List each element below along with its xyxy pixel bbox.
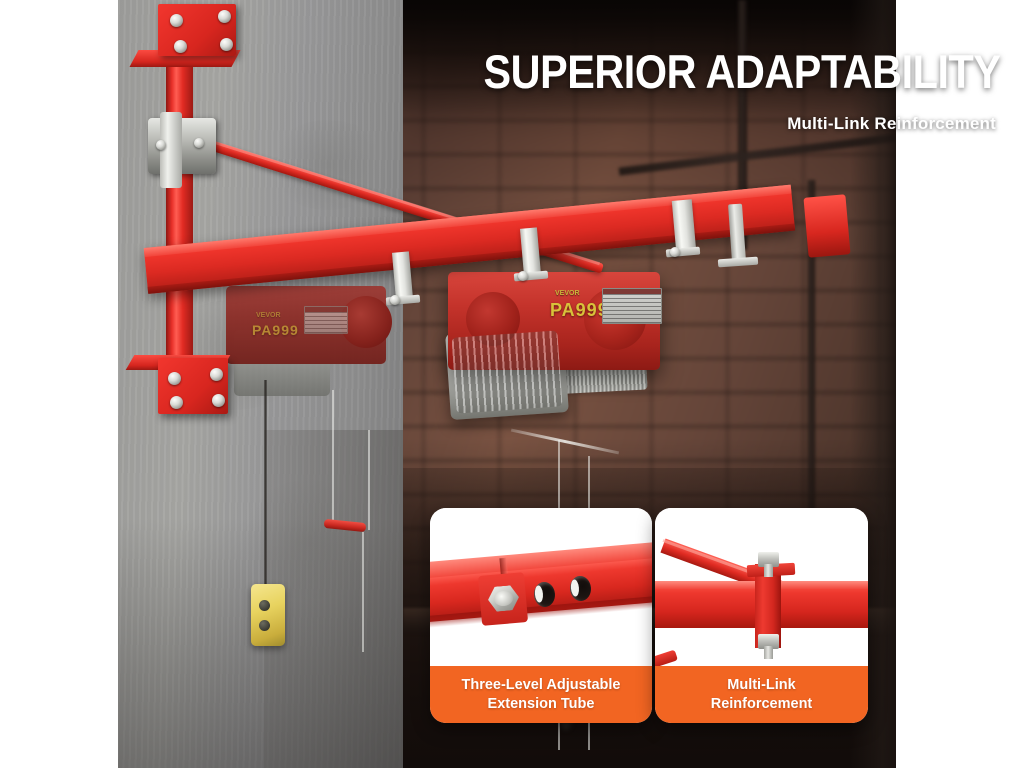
lift-cable <box>332 390 334 522</box>
lift-cable-secondary <box>368 430 370 530</box>
vertical-support-post <box>166 48 193 388</box>
caption-line-1: Three-Level Adjustable <box>461 676 620 694</box>
mount-bolt <box>210 368 223 381</box>
page-subtitle: Multi-Link Reinforcement <box>787 114 996 134</box>
collar-bolt <box>194 138 204 148</box>
page-title: SUPERIOR ADAPTABILITY <box>483 48 1000 95</box>
pendant-cable <box>264 380 267 586</box>
collar-band <box>160 112 182 188</box>
reinforcement-bolt-shaft-top <box>764 564 773 577</box>
collar-bolt <box>156 140 166 150</box>
pendant-button-up <box>259 600 270 611</box>
detail-card-multi-link: Multi-Link Reinforcement <box>655 508 868 723</box>
detail-card-caption-multi-link: Multi-Link Reinforcement <box>655 666 868 723</box>
detail-card-caption-extension-tube: Three-Level Adjustable Extension Tube <box>430 666 652 723</box>
lifting-hook <box>323 520 367 534</box>
pendant-control <box>251 584 285 646</box>
beam-end-cap <box>803 194 850 257</box>
reinforcement-bolt-shaft-bottom <box>764 646 773 659</box>
brand-mark-main: VEVOR <box>555 290 580 297</box>
lift-cable-lower <box>362 532 364 652</box>
mount-bolt <box>218 10 231 23</box>
caption-line-2: Extension Tube <box>488 695 595 713</box>
strap-bolt <box>390 295 400 305</box>
pendant-button-down <box>259 620 270 631</box>
spec-plate-secondary <box>304 306 348 334</box>
detail-card-extension-tube: Three-Level Adjustable Extension Tube <box>430 508 652 723</box>
caption-line-1: Multi-Link <box>727 676 795 694</box>
mount-bolt <box>212 394 225 407</box>
mount-bolt <box>168 372 181 385</box>
hanger-bolt <box>670 247 680 257</box>
motor-cooling-ribs <box>451 330 562 413</box>
model-label-main: PA999 <box>550 300 609 321</box>
reinforcement-side-stub <box>655 650 678 666</box>
caption-line-2: Reinforcement <box>711 695 813 713</box>
strap-bolt <box>518 271 528 281</box>
product-marketing-image: VEVOR PA999 VEVOR PA999 <box>0 0 1024 768</box>
detail-card-photo-extension-tube <box>430 508 652 666</box>
brand-mark-secondary: VEVOR <box>256 312 281 319</box>
detail-card-photo-multi-link <box>655 508 868 666</box>
mount-bolt <box>170 14 183 27</box>
spec-plate-main <box>602 288 662 324</box>
mount-bolt <box>174 40 187 53</box>
model-label-secondary: PA999 <box>252 322 299 338</box>
mount-bolt <box>170 396 183 409</box>
mount-bolt <box>220 38 233 51</box>
